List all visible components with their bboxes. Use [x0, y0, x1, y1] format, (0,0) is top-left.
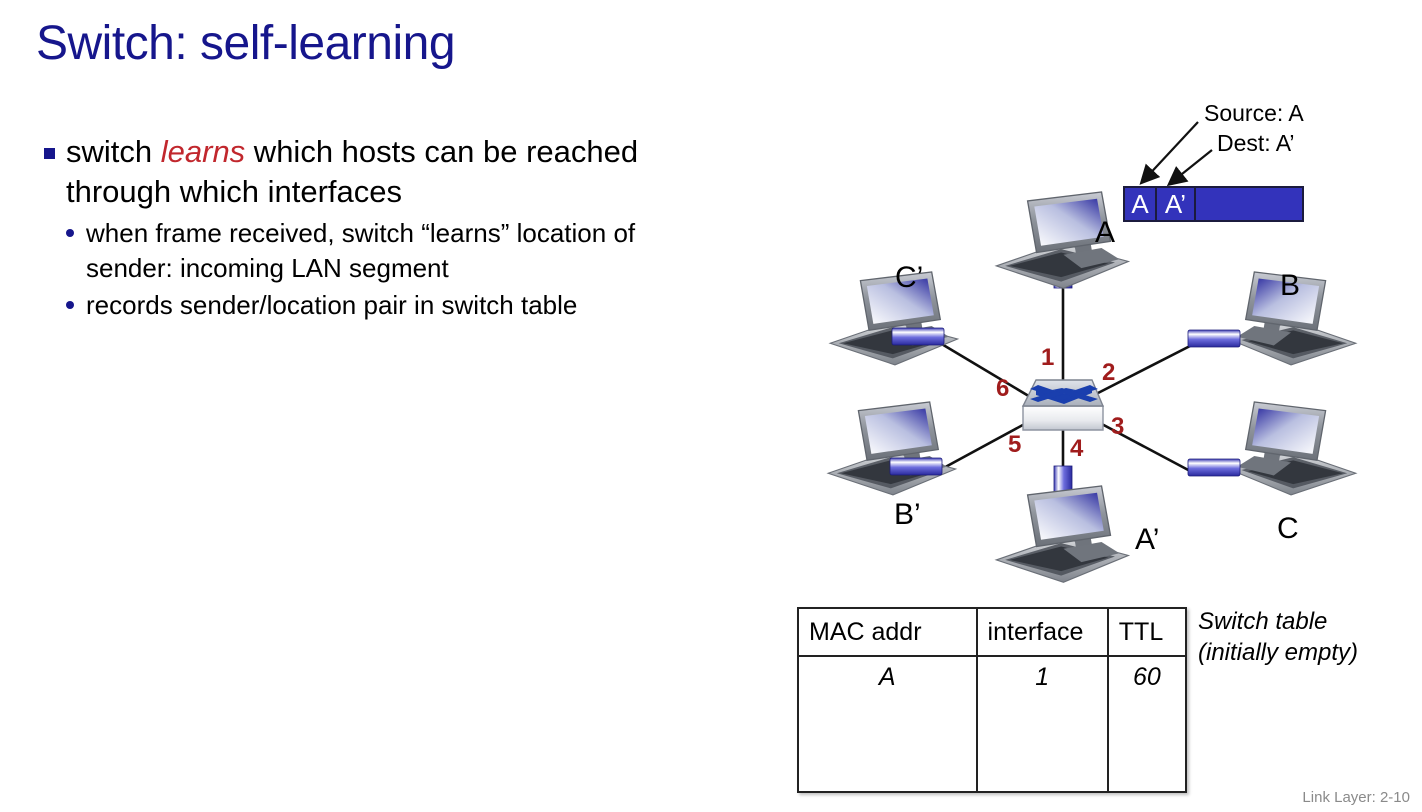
column-header-mac: MAC addr — [799, 609, 977, 656]
caption-line-1: Switch table — [1198, 606, 1358, 637]
table-row: A 1 60 — [799, 656, 1185, 791]
cell-mac: A — [799, 656, 977, 791]
sub-bullet-item: records sender/location pair in switch t… — [62, 288, 680, 323]
switch-port-1: 1 — [1041, 344, 1054, 372]
square-bullet-icon — [44, 148, 55, 159]
page-title: Switch: self-learning — [36, 16, 455, 71]
switch-icon — [1023, 380, 1103, 430]
cell-interface: 1 — [977, 656, 1108, 791]
host-icon-B — [1188, 272, 1356, 365]
dot-bullet-icon — [66, 301, 74, 309]
host-label-B: B — [1280, 269, 1300, 303]
column-header-ttl: TTL — [1108, 609, 1185, 656]
host-label-A: A — [1095, 216, 1115, 250]
switch-port-2: 2 — [1102, 359, 1115, 387]
sub-bullet-label: when frame received, switch “learns” loc… — [86, 218, 635, 283]
host-label-Cp: C’ — [895, 261, 923, 295]
column-header-interface: interface — [977, 609, 1108, 656]
switch-port-5: 5 — [1008, 431, 1021, 459]
frame-dest-cell: A’ — [1156, 187, 1195, 221]
host-icon-Bp — [828, 402, 955, 495]
annotation-arrows — [1144, 122, 1212, 182]
slide-footer: Link Layer: 2-10 — [1302, 789, 1410, 806]
bullet-list: switch learns which hosts can be reached… — [40, 132, 680, 325]
switch-port-3: 3 — [1111, 413, 1124, 441]
host-icon-Cp — [830, 272, 957, 365]
host-label-Bp: B’ — [894, 498, 921, 532]
slide-canvas: Switch: self-learning switch learns whic… — [0, 0, 1422, 812]
bullet-level1: switch learns which hosts can be reached… — [40, 132, 680, 212]
table-header-row: MAC addr interface TTL — [799, 609, 1185, 656]
sub-bullet-list: when frame received, switch “learns” loc… — [40, 216, 680, 323]
host-label-Ap: A’ — [1135, 523, 1159, 557]
bullet-text-emphasis: learns — [161, 134, 245, 169]
annotation-source-label: Source: A — [1204, 100, 1304, 127]
switch-table: MAC addr interface TTL A 1 60 — [797, 607, 1187, 793]
caption-line-2: (initially empty) — [1198, 637, 1358, 668]
frame-source-cell: A — [1124, 187, 1156, 221]
sub-bullet-label: records sender/location pair in switch t… — [86, 290, 577, 320]
switch-table-caption: Switch table (initially empty) — [1198, 606, 1358, 668]
bullet-text-part-a: switch — [66, 134, 161, 169]
diagram-graphics — [780, 80, 1422, 600]
host-label-C: C — [1277, 512, 1299, 546]
frame-payload-cell — [1195, 187, 1303, 221]
host-icon-Ap — [996, 466, 1128, 582]
network-diagram: A A’ Source: A Dest: A’ A C’ B B’ C A’ 1… — [780, 80, 1422, 600]
switch-port-4: 4 — [1070, 435, 1083, 463]
host-icon-C — [1188, 402, 1356, 495]
switch-port-6: 6 — [996, 375, 1009, 403]
network-links — [938, 276, 1192, 472]
annotation-dest-label: Dest: A’ — [1217, 130, 1295, 157]
cell-ttl: 60 — [1108, 656, 1185, 791]
dot-bullet-icon — [66, 229, 74, 237]
sub-bullet-item: when frame received, switch “learns” loc… — [62, 216, 680, 286]
